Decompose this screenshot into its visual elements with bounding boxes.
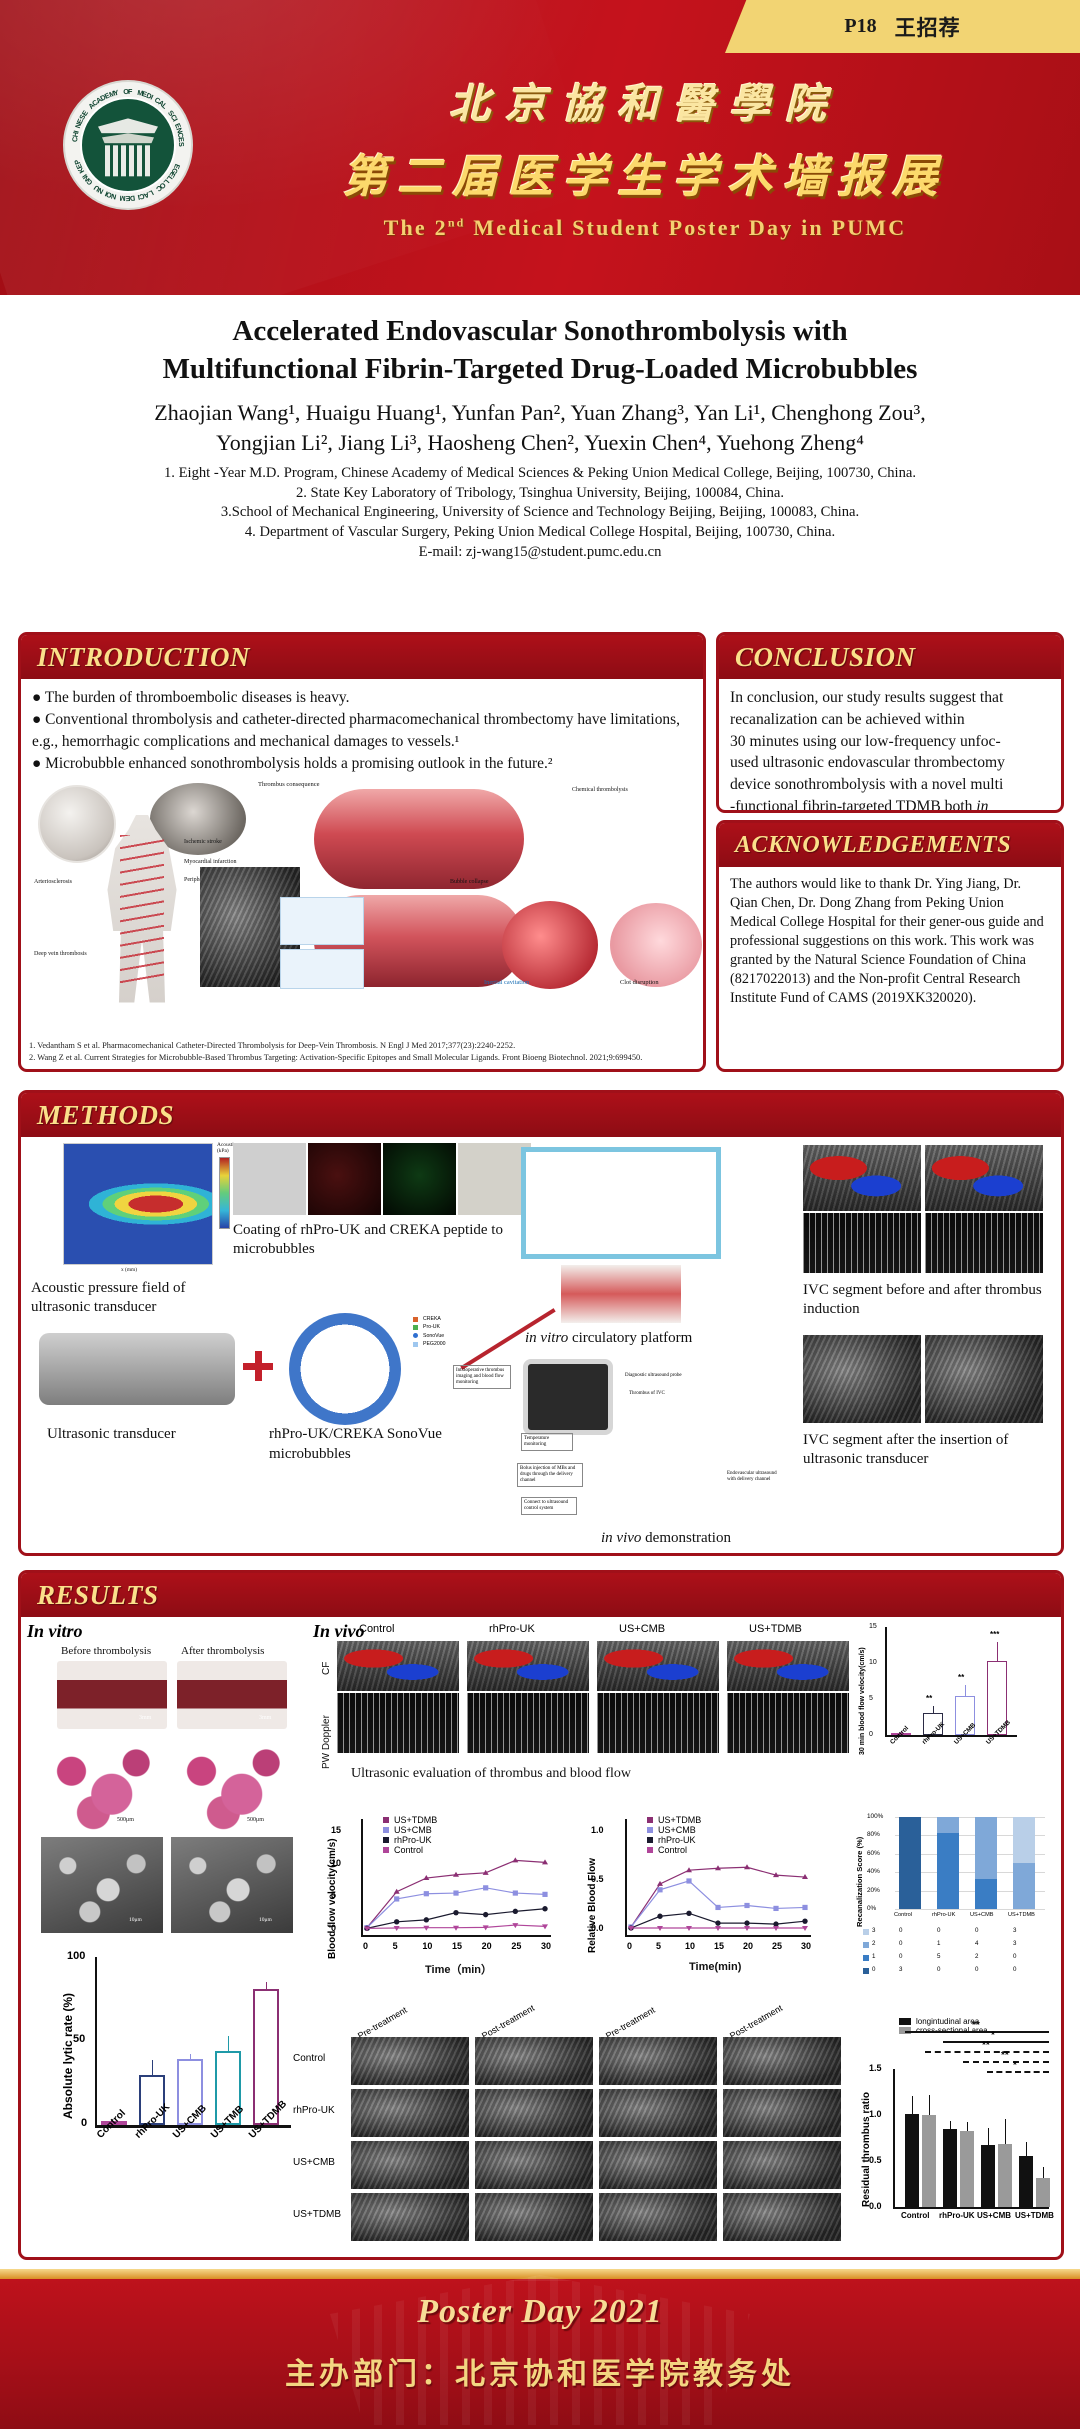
ivc-doppler-image-before <box>803 1213 921 1273</box>
bar <box>1036 2178 1050 2207</box>
x-tick: 5 <box>393 1941 398 1951</box>
poster-header: P18 王招荐 CHINESE ACADEMY OF MEDICAL SCIEN… <box>0 0 1080 295</box>
plus-sign-icon <box>243 1351 273 1381</box>
chart-y-axis <box>95 1957 97 2125</box>
y-tick: 15 <box>331 1825 341 1835</box>
significance-marker: ** <box>926 1694 932 1703</box>
label-deep-vein-thrombosis: Deep vein thrombosis <box>34 951 87 957</box>
series-marker <box>453 1890 458 1895</box>
y-tick: 0 <box>331 1923 336 1933</box>
poster-number-badge: P18 王招荐 <box>725 0 1080 53</box>
legend-item: rhPro-UK <box>647 1835 701 1845</box>
results-panel: RESULTS In vitro Before thrombolysis Aft… <box>18 1570 1064 2260</box>
legend-marker <box>647 1837 653 1843</box>
ivc-bmode-image-2 <box>925 1335 1043 1423</box>
x-tick: 15 <box>452 1941 462 1951</box>
vessel-illustration <box>314 789 524 889</box>
chart-xlabel: Time（min） <box>425 1961 492 1977</box>
ultrasonic-transducer-image <box>39 1333 235 1405</box>
conclusion-header: CONCLUSION <box>719 635 1061 679</box>
column-header: US+CMB <box>619 1623 665 1635</box>
y-tick: 10 <box>331 1858 341 1868</box>
legend-item: Control <box>383 1845 437 1855</box>
vascular-tree-overlay <box>120 835 164 985</box>
chart-x-axis <box>893 2207 1049 2209</box>
reference-item: 2. Wang Z et al. Current Strategies for … <box>29 1052 695 1064</box>
treatment-ultrasound-image <box>351 2089 469 2137</box>
significance-line <box>987 2071 1049 2073</box>
y-tick: 10 <box>869 1659 877 1666</box>
series-marker <box>657 1914 662 1919</box>
series-marker <box>424 1917 429 1922</box>
invivo-demonstration-caption: in vivo demonstration <box>601 1529 731 1548</box>
error-bar <box>266 1982 268 1989</box>
y-tick: 0.0 <box>869 2201 882 2211</box>
microbubble-brightfield-image <box>233 1143 306 1215</box>
table-cell: 3 <box>899 1966 902 1973</box>
label-thrombus-consequence: Thrombus consequence <box>258 781 320 788</box>
poster-title-line-2: Multifunctional Fibrin-Targeted Drug-Loa… <box>40 351 1040 389</box>
bar <box>960 2131 974 2207</box>
pw-doppler-image <box>727 1693 849 1753</box>
legend-item-peg: PEG2000 <box>413 1340 446 1348</box>
legend-label: US+CMB <box>658 1825 696 1835</box>
category-label: Control <box>894 1912 912 1918</box>
treatment-column-label: Post-treatment <box>480 2003 536 2041</box>
legend-marker <box>383 1817 389 1823</box>
table-row: 30003 <box>863 1927 1049 1939</box>
category-label: US+TDMB <box>1008 1912 1035 1918</box>
x-tick: 10 <box>685 1941 695 1951</box>
x-tick: 5 <box>656 1941 661 1951</box>
legend-swatch <box>863 1955 869 1961</box>
treatment-row-label: US+TDMB <box>293 2209 341 2220</box>
table-cell: 0 <box>899 1953 902 1960</box>
treatment-ultrasound-image <box>599 2141 717 2189</box>
row-label-pw-doppler: PW Doppler <box>321 1715 332 1769</box>
error-bar <box>1005 2119 1006 2145</box>
conclusion-body: In conclusion, our study results suggest… <box>719 679 1061 813</box>
series-marker <box>542 1892 547 1897</box>
legend-marker <box>647 1817 653 1823</box>
error-bar <box>228 2036 230 2051</box>
error-bar <box>190 2054 192 2059</box>
table-cell: 3 <box>1013 1940 1016 1947</box>
error-bar <box>967 2122 968 2130</box>
color-flow-image <box>467 1641 589 1691</box>
treatment-ultrasound-image <box>475 2089 593 2137</box>
series-marker <box>715 1920 720 1925</box>
series-marker <box>394 1919 399 1924</box>
introduction-figure: Thrombus consequence Arteriosclerosis Is… <box>32 779 692 1011</box>
affiliations: INTRODUCTION 1. Eight -Year M.D. Program… <box>40 464 1040 562</box>
treatment-ultrasound-image <box>723 2141 841 2189</box>
legend-swatch <box>863 1968 869 1974</box>
legend-label: longintudinal area <box>916 2017 979 2026</box>
reference-item: 1. Vedantham S et al. Pharmacomechanical… <box>29 1040 695 1052</box>
series-marker <box>715 1905 720 1910</box>
error-bar <box>152 2060 154 2075</box>
legend-item: rhPro-UK <box>383 1835 437 1845</box>
series-marker <box>773 1921 778 1926</box>
legend-marker <box>647 1847 653 1853</box>
table-row-label: 2 <box>872 1940 875 1947</box>
x-tick: 10 <box>422 1941 432 1951</box>
legend-label: US+CMB <box>394 1825 432 1835</box>
conclusion-line: -functional fibrin-targeted TDMB both in <box>730 796 1050 813</box>
stacked-bar-segment <box>1013 1863 1035 1909</box>
y-tick: 5 <box>331 1890 336 1900</box>
x-tick: 25 <box>511 1941 521 1951</box>
ivc-color-flow-image-after <box>925 1145 1043 1211</box>
table-cell: 1 <box>937 1940 940 1947</box>
category-label: Control <box>901 2211 929 2220</box>
scalebar-label: 500μm <box>247 1817 264 1823</box>
before-thrombolysis-label: Before thrombolysis <box>61 1645 151 1657</box>
series-marker <box>744 1920 749 1925</box>
x-tick: 30 <box>801 1941 811 1951</box>
stacked-bar-segment <box>937 1817 959 1833</box>
treatment-column-label: Pre-treatment <box>356 2005 409 2041</box>
introduction-header: INTRODUCTION <box>21 635 703 679</box>
stacked-bar-segment <box>899 1817 921 1909</box>
waveform-panel <box>280 897 364 945</box>
series-marker <box>744 1903 749 1908</box>
scalebar-label: 3mm <box>139 1715 151 1721</box>
scalebar-label: 3mm <box>259 1715 271 1721</box>
legend-item: US+TDMB <box>647 1815 701 1825</box>
ivc-doppler-image-after <box>925 1213 1043 1273</box>
legend-item: US+TDMB <box>383 1815 437 1825</box>
acknowledgements-panel: ACKNOWLEDGEMENTS The authors would like … <box>716 820 1064 1072</box>
acoustic-colorbar <box>219 1157 230 1229</box>
author-line-1: Zhaojian Wang¹, Huaigu Huang¹, Yunfan Pa… <box>40 398 1040 427</box>
treatment-column-label: Pre-treatment <box>604 2005 657 2041</box>
conclusion-panel: CONCLUSION In conclusion, our study resu… <box>716 632 1064 813</box>
y-tick: 80% <box>867 1831 880 1838</box>
treatment-row-label: rhPro-UK <box>293 2105 335 2116</box>
invitro-platform-caption: in vitro circulatory platform <box>525 1329 765 1348</box>
legend-label: rhPro-UK <box>394 1835 432 1845</box>
y-tick: 1.0 <box>869 2109 882 2119</box>
treatment-ultrasound-image <box>351 2037 469 2085</box>
introduction-references: 1. Vedantham S et al. Pharmacomechanical… <box>29 1040 695 1064</box>
table-cell: 0 <box>899 1927 902 1934</box>
conclusion-line: recanalization can be achieved within <box>730 709 1050 731</box>
bar <box>905 2114 919 2207</box>
author-list: Zhaojian Wang¹, Huaigu Huang¹, Yunfan Pa… <box>40 398 1040 457</box>
legend-swatch <box>899 2018 911 2025</box>
legend-swatch <box>863 1929 869 1935</box>
significance-marker: * <box>991 2030 995 2041</box>
y-tick: 0.0 <box>591 1923 604 1933</box>
poster-title-line-1: Accelerated Endovascular Sonothrombolysi… <box>40 313 1040 351</box>
legend-label: Control <box>394 1845 423 1855</box>
color-flow-image <box>727 1641 849 1691</box>
y-tick: 20% <box>867 1887 880 1894</box>
introduction-bullets: ● The burden of thromboembolic diseases … <box>32 687 692 775</box>
y-tick: 1.0 <box>591 1825 604 1835</box>
stacked-bar-segment <box>975 1879 997 1909</box>
author-line-2: Yongjian Li², Jiang Li³, Haosheng Chen²,… <box>40 428 1040 457</box>
chart-ytick: 50 <box>73 2033 85 2045</box>
table-cell: 3 <box>1013 1927 1016 1934</box>
table-cell: 2 <box>975 1953 978 1960</box>
bar <box>1019 2156 1033 2207</box>
table-row: 10520 <box>863 1953 1049 1965</box>
series-marker <box>542 1906 547 1911</box>
conclusion-line: 30 minutes using our low-frequency unfoc… <box>730 731 1050 753</box>
error-bar <box>933 1706 934 1712</box>
header-english-line: The 2nd Medical Student Poster Day in PU… <box>280 215 1010 241</box>
microbubbles-caption: rhPro-UK/CREKA SonoVue microbubbles <box>269 1425 469 1464</box>
significance-line <box>905 2031 1049 2033</box>
sem-image-before <box>41 1837 163 1933</box>
treatment-ultrasound-image <box>475 2141 593 2189</box>
treatment-ultrasound-image <box>475 2037 593 2085</box>
methods-header: METHODS <box>21 1093 1061 1137</box>
significance-line <box>963 2061 1049 2063</box>
significance-marker: * <box>1013 2060 1017 2071</box>
treatment-ultrasound-image <box>723 2037 841 2085</box>
color-flow-image <box>597 1641 719 1691</box>
treatment-ultrasound-image <box>723 2089 841 2137</box>
y-tick: 1.5 <box>869 2063 882 2073</box>
category-label: rhPro-UK <box>939 2211 975 2220</box>
acknowledgements-header: ACKNOWLEDGEMENTS <box>719 823 1061 867</box>
table-cell: 0 <box>975 1927 978 1934</box>
error-bar <box>912 2096 913 2114</box>
stacked-bar-segment <box>937 1833 959 1909</box>
logo-arc-bottom-text: PEKING UNION MEDICAL COLLEGE <box>63 80 193 210</box>
clot-in-tube-image <box>561 1265 681 1323</box>
legend-marker <box>383 1827 389 1833</box>
diagram-label: Bolus injection of MBs and drugs through… <box>517 1463 583 1487</box>
chart-30min-blood-flow-velocity: 30 min blood flow velocity(cm/s) 051015 … <box>851 1623 1031 1793</box>
series-marker <box>424 1891 429 1896</box>
microbubble-green-fluorescence-image <box>383 1143 456 1215</box>
badge-code: P18 <box>844 15 876 38</box>
affiliation-item: 3.School of Mechanical Engineering, Univ… <box>40 503 1040 522</box>
chart-relative-blood-flow-vs-time: Relative Blood Flow 0.00.51.0 0510152025… <box>581 1813 831 1989</box>
pumc-logo: CHINESE ACADEMY OF MEDICAL SCIENCES PEKI… <box>63 80 193 210</box>
x-tick: 30 <box>541 1941 551 1951</box>
legend-label: Control <box>658 1845 687 1855</box>
y-tick: 60% <box>867 1850 880 1857</box>
series-marker <box>394 1896 399 1901</box>
x-tick: 20 <box>743 1941 753 1951</box>
series-marker <box>513 1909 518 1914</box>
series-marker <box>773 1906 778 1911</box>
table-row-label: 1 <box>872 1953 875 1960</box>
table-cell: 0 <box>975 1966 978 1973</box>
ivc-insertion-caption: IVC segment after the insertion of ultra… <box>803 1431 1053 1469</box>
table-cell: 0 <box>1013 1953 1016 1960</box>
diagram-label: Diagnostic ultrasound probe <box>625 1373 682 1378</box>
header-chinese-line-2: 第二届医学生学术墙报展 <box>280 140 1010 205</box>
intro-bullet: ● Microbubble enhanced sonothrombolysis … <box>32 753 692 775</box>
contact-email: E-mail: zj-wang15@student.pumc.edu.cn <box>40 543 1040 562</box>
waveform-panel <box>280 949 364 989</box>
treatment-ultrasound-image <box>599 2089 717 2137</box>
significance-marker: ** <box>1001 2050 1009 2061</box>
legend-label: US+TDMB <box>658 1815 701 1825</box>
acoustic-pressure-field-image <box>63 1143 213 1265</box>
diagram-label: Intraoperative thrombus imaging and bloo… <box>453 1365 511 1389</box>
poster-title: Accelerated Endovascular Sonothrombolysi… <box>40 313 1040 388</box>
legend-swatch <box>863 1942 869 1948</box>
x-tick: 15 <box>714 1941 724 1951</box>
footer-title: Poster Day 2021 <box>0 2293 1080 2331</box>
table-cell: 0 <box>899 1940 902 1947</box>
column-header: US+TDMB <box>749 1623 802 1635</box>
legend-item-prouk: Pro-UK <box>413 1323 446 1331</box>
label-myocardial-infarction: Myocardial infarction <box>184 859 236 865</box>
series-marker <box>513 1890 518 1895</box>
y-tick: 15 <box>869 1623 877 1630</box>
legend-marker <box>383 1837 389 1843</box>
chart-y-axis <box>893 2069 895 2207</box>
ultrasound-machine-image <box>523 1359 613 1435</box>
in-vivo-label: In vivo <box>313 1621 365 1642</box>
badge-name: 王招荐 <box>895 12 961 42</box>
results-heading: RESULTS <box>37 1580 159 1611</box>
plaque-inset-image <box>38 785 116 863</box>
results-body: In vitro Before thrombolysis After throm… <box>21 1617 1061 2257</box>
conclusion-heading: CONCLUSION <box>735 642 916 673</box>
legend-item: US+CMB <box>647 1825 701 1835</box>
scalebar-label: 500μm <box>117 1817 134 1823</box>
acknowledgements-heading: ACKNOWLEDGEMENTS <box>735 832 1011 859</box>
x-tick: 25 <box>772 1941 782 1951</box>
y-tick: 40% <box>867 1868 880 1875</box>
series-marker <box>453 1910 458 1915</box>
conclusion-line: used ultrasonic endovascular thrombectom… <box>730 752 1050 774</box>
ivc-color-flow-image-before <box>803 1145 921 1211</box>
methods-panel: METHODS Acoustic pressure (kPa) x (mm) A… <box>18 1090 1064 1556</box>
treatment-row-label: US+CMB <box>293 2157 335 2168</box>
treatment-ultrasound-image <box>351 2193 469 2241</box>
bar <box>998 2144 1012 2207</box>
legend-marker <box>383 1847 389 1853</box>
table-row-label: 0 <box>872 1966 875 1973</box>
series-marker <box>802 1918 807 1923</box>
bar <box>943 2129 957 2207</box>
affiliation-item: 4. Department of Vascular Surgery, Pekin… <box>40 523 1040 542</box>
significance-marker: ** <box>972 2020 980 2031</box>
legend-marker <box>647 1827 653 1833</box>
table-cell: 0 <box>937 1966 940 1973</box>
introduction-body: ● The burden of thromboembolic diseases … <box>21 679 703 1019</box>
diagram-label: Temperature monitoring <box>521 1433 573 1451</box>
clot-disruption-image <box>610 903 702 987</box>
treatment-ultrasound-image <box>599 2037 717 2085</box>
series-marker <box>483 1912 488 1917</box>
y-tick: 5 <box>869 1695 873 1702</box>
label-ischemic-stroke: Ischemic stroke <box>184 839 222 845</box>
ivc-before-after-caption: IVC segment before and after thrombus in… <box>803 1281 1053 1319</box>
series-marker <box>802 1905 807 1910</box>
chart-absolute-lytic-rate: Absolute lytic rate (%) 100 50 0 Control… <box>39 1947 295 2177</box>
stacked-bar-segment <box>975 1817 997 1879</box>
y-tick: 0% <box>867 1905 876 1912</box>
error-bar <box>929 2095 930 2115</box>
transducer-caption: Ultrasonic transducer <box>47 1425 197 1445</box>
diagram-label: Endovascular ultrasound with delivery ch… <box>727 1471 777 1483</box>
sem-image-after <box>171 1837 293 1933</box>
legend-item: US+CMB <box>383 1825 437 1835</box>
column-header: rhPro-UK <box>489 1623 535 1635</box>
diagram-label: Thrombus of IVC <box>629 1391 665 1396</box>
chart-residual-thrombus-ratio: longintudinal areacross-sectional area R… <box>847 2017 1057 2247</box>
bar <box>922 2115 936 2207</box>
color-flow-image <box>337 1641 459 1691</box>
chart-y-axis <box>885 1627 887 1735</box>
intro-bullet: ● The burden of thromboembolic diseases … <box>32 687 692 709</box>
treatment-row-label: Control <box>293 2053 325 2064</box>
chart-ylabel: Recanalization Score (%) <box>855 1837 864 1927</box>
error-bar <box>965 1685 966 1697</box>
circulatory-platform-diagram <box>521 1147 721 1259</box>
x-tick: 20 <box>482 1941 492 1951</box>
acoustic-axis-x-label: x (mm) <box>121 1267 137 1273</box>
category-label: US+CMB <box>977 2211 1011 2220</box>
microbubble-schematic <box>289 1313 401 1425</box>
intro-bullet: ● Conventional thrombolysis and catheter… <box>32 709 692 753</box>
affiliation-item: 1. Eight -Year M.D. Program, Chinese Aca… <box>40 464 1040 483</box>
methods-body: Acoustic pressure (kPa) x (mm) Acoustic … <box>21 1137 1061 1555</box>
header-titles: 北京協和醫學院 第二届医学生学术墙报展 The 2nd Medical Stud… <box>280 70 1010 241</box>
chart-recanalization-score: Recanalization Score (%) 0%20%40%60%80%1… <box>847 1803 1053 2003</box>
chart-ytick: 100 <box>67 1950 85 1962</box>
gridline <box>895 1909 1045 1910</box>
legend-label: US+TDMB <box>394 1815 437 1825</box>
legend-label: rhPro-UK <box>658 1835 696 1845</box>
label-arteriosclerosis: Arteriosclerosis <box>34 879 72 885</box>
significance-marker: ** <box>958 1673 964 1682</box>
header-chinese-line-1: 北京協和醫學院 <box>280 70 1010 130</box>
ivc-bmode-image-1 <box>803 1335 921 1423</box>
error-bar <box>988 2128 989 2145</box>
diagram-label: Connect to ultrasound control system <box>521 1497 577 1515</box>
table-cell: 4 <box>975 1940 978 1947</box>
chart-ylabel: 30 min blood flow velocity(cm/s) <box>859 1647 866 1755</box>
table-row-label: 3 <box>872 1927 875 1934</box>
chart-ylabel: Relative Blood Flow <box>587 1858 598 1953</box>
row-label-cf: CF <box>321 1662 332 1675</box>
invivo-anatomy-diagram <box>621 1353 781 1523</box>
chart-legend: US+TDMBUS+CMBrhPro-UKControl <box>647 1815 701 1855</box>
stacked-bar-segment <box>1013 1817 1035 1863</box>
table-cell: 0 <box>937 1927 940 1934</box>
series-marker <box>483 1885 488 1890</box>
ultrasonic-evaluation-caption: Ultrasonic evaluation of thrombus and bl… <box>351 1765 631 1783</box>
y-tick: 0.5 <box>591 1874 604 1884</box>
poster-footer: Poster Day 2021 主办部门：北京协和医学院教务处 <box>0 2269 1080 2429</box>
acknowledgements-body: The authors would like to thank Dr. Ying… <box>719 867 1061 1016</box>
significance-marker: ** <box>982 2040 990 2051</box>
x-tick: 0 <box>627 1941 632 1951</box>
series-marker <box>512 1857 518 1862</box>
chart-xlabel: Time(min) <box>689 1961 741 1973</box>
table-row: 20143 <box>863 1940 1049 1952</box>
footer-organizer: 主办部门：北京协和医学院教务处 <box>0 2349 1080 2393</box>
coating-caption: Coating of rhPro-UK and CREKA peptide to… <box>233 1221 533 1259</box>
after-thrombolysis-label: After thrombolysis <box>181 1645 264 1657</box>
microbubble-legend: CREKA Pro-UK SonoVue PEG2000 <box>413 1315 446 1348</box>
chart-ylabel: Absolute lytic rate (%) <box>61 1993 75 2119</box>
methods-heading: METHODS <box>37 1100 174 1131</box>
